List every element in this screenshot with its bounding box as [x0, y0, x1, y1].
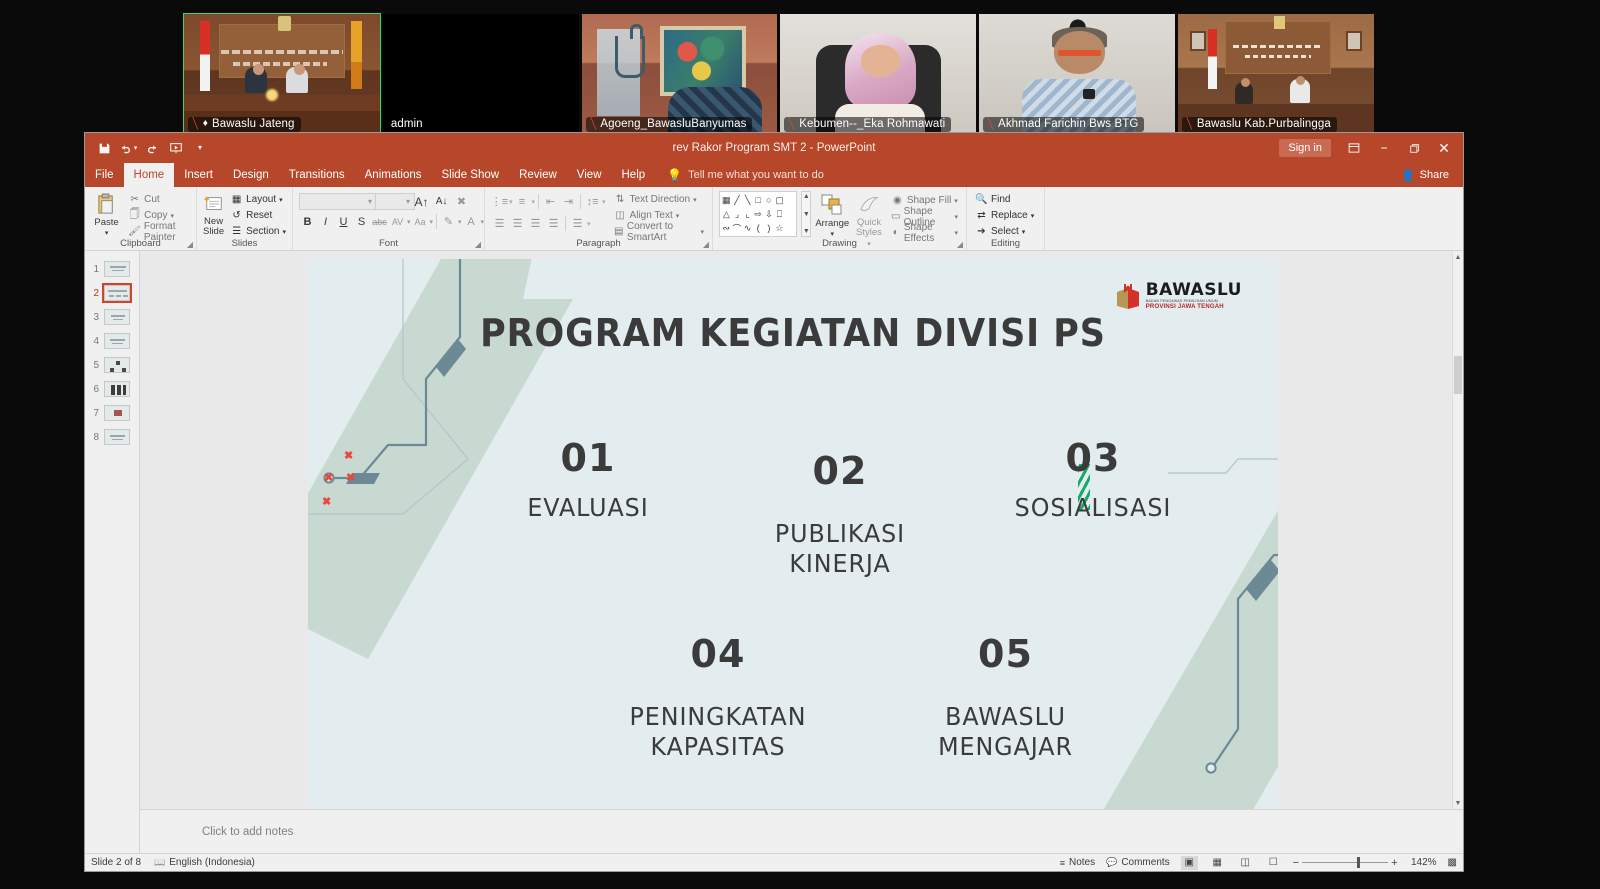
- italic-button[interactable]: I: [317, 213, 334, 230]
- tab-home[interactable]: Home: [124, 163, 175, 187]
- clear-formatting-icon[interactable]: ✖: [453, 193, 470, 210]
- bullets-button[interactable]: ⋮≡: [491, 193, 508, 210]
- chevron-down-icon: ▾: [587, 220, 591, 228]
- mic-muted-icon: ╲: [988, 119, 993, 130]
- paste-button[interactable]: Paste ▾: [91, 190, 122, 237]
- red-x-mark: ✖: [324, 471, 333, 484]
- tab-animations[interactable]: Animations: [355, 163, 432, 187]
- shape-blank2-icon[interactable]: [785, 207, 796, 221]
- item-number: 03: [963, 439, 1223, 479]
- chevron-down-icon: ▾: [830, 230, 834, 238]
- thumbnail-preview[interactable]: [104, 357, 130, 373]
- logo-sub1: BADAN PENGAWAS PEMILIHAN UMUM: [1146, 300, 1242, 304]
- item-label: EVALUASI: [474, 493, 702, 524]
- slide-editor: BAWASLU BADAN PENGAWAS PEMILIHAN UMUM PR…: [140, 251, 1463, 853]
- item-label: PENINGKATAN KAPASITAS: [590, 702, 847, 763]
- new-slide-label: New Slide: [203, 217, 224, 238]
- shape-left-brace-icon[interactable]: (: [753, 221, 764, 235]
- chevron-down-icon: ▾: [368, 197, 372, 206]
- normal-view-button[interactable]: ▣: [1181, 856, 1198, 870]
- find-button[interactable]: 🔍 Find: [973, 192, 1036, 207]
- shape-elbow-icon[interactable]: ⌟: [732, 207, 743, 221]
- group-label-paragraph: Paragraph: [485, 238, 712, 249]
- share-label: Share: [1420, 169, 1449, 181]
- shape-blank3-icon[interactable]: [785, 221, 796, 235]
- tell-me-label: Tell me what you want to do: [688, 169, 824, 181]
- arrange-icon: [821, 193, 843, 217]
- ribbon-group-drawing: ▦ ╱ ╲ □ ○ ▢ △ ⌟ ⌞ ⇨ ⇩ ⎕ ∾: [713, 187, 967, 250]
- participant-nametag: ╲ Agoeng_BawasluBanyumas: [586, 117, 753, 132]
- shape-arc-icon[interactable]: ⌒: [732, 221, 743, 235]
- thumbnail-number: 5: [90, 360, 99, 371]
- text-highlight-color-button[interactable]: ✎: [440, 213, 457, 230]
- participant-nametag: ╲ ♦ Bawaslu Jateng: [188, 117, 301, 132]
- chevron-down-icon: ▾: [458, 218, 462, 226]
- change-case-button[interactable]: Aa: [412, 213, 429, 230]
- shape-right-arrow-icon[interactable]: ⇨: [753, 207, 764, 221]
- window-title: rev Rakor Program SMT 2 - PowerPoint: [85, 142, 1463, 154]
- chevron-down-icon: ▾: [954, 197, 958, 205]
- thumbnail-slide-1[interactable]: 1: [85, 257, 139, 281]
- shape-line-icon[interactable]: ╱: [732, 193, 743, 207]
- group-label-slides: Slides: [197, 238, 292, 249]
- font-dialog-launcher[interactable]: ◢: [475, 240, 481, 249]
- shape-fill-icon: ◉: [891, 194, 904, 207]
- fit-to-window-button[interactable]: ▩: [1448, 857, 1457, 868]
- language-icon: 📖: [154, 857, 165, 868]
- ribbon-display-options-icon[interactable]: [1339, 135, 1369, 161]
- share-person-icon: 👤: [1401, 169, 1415, 182]
- increase-font-size-button[interactable]: A↑: [413, 193, 430, 210]
- shape-rectangle-icon[interactable]: □: [753, 193, 764, 207]
- copy-label: Copy: [144, 210, 167, 221]
- save-icon[interactable]: [93, 137, 115, 159]
- status-bar: Slide 2 of 8 📖 English (Indonesia) ≡ Not…: [85, 853, 1463, 871]
- shape-down-arrow-icon[interactable]: ⇩: [764, 207, 775, 221]
- thumbnail-number: 7: [90, 408, 99, 419]
- reset-icon: ↺: [230, 209, 243, 222]
- shape-oval-icon[interactable]: ○: [764, 193, 775, 207]
- group-label-drawing: Drawing: [713, 238, 966, 249]
- bawaslu-logo: BAWASLU BADAN PENGAWAS PEMILIHAN UMUM PR…: [1115, 281, 1242, 311]
- group-label-editing: Editing: [967, 238, 1044, 249]
- slide-counter[interactable]: Slide 2 of 8: [91, 857, 141, 868]
- zoom-percent[interactable]: 142%: [1409, 857, 1437, 868]
- paste-icon: [96, 192, 117, 216]
- quick-access-toolbar: ▾ ▾: [85, 137, 211, 159]
- notes-icon: ≡: [1060, 858, 1065, 868]
- item-number: 01: [468, 439, 708, 479]
- scroll-up-icon[interactable]: ▲: [1453, 251, 1463, 263]
- participant-nametag: ╲ Bawaslu Kab.Purbalingga: [1182, 117, 1337, 132]
- line-spacing-button[interactable]: ↕≡: [584, 193, 601, 210]
- undo-icon[interactable]: ▾: [117, 137, 139, 159]
- smartart-icon: ▤: [614, 225, 624, 238]
- scissors-icon: ✂: [128, 193, 141, 206]
- chevron-down-icon: ▾: [1031, 212, 1035, 220]
- chevron-down-icon: ▾: [481, 218, 485, 226]
- red-x-mark: ✖: [346, 471, 355, 484]
- mic-muted-icon: ╲: [590, 119, 595, 130]
- participant-name: Bawaslu Jateng: [212, 118, 295, 130]
- shape-blank-icon[interactable]: [785, 193, 796, 207]
- chevron-down-icon: ▾: [282, 228, 286, 236]
- shape-rounded-rect-icon[interactable]: ▢: [774, 193, 785, 207]
- thumbnail-slide-2[interactable]: 2: [85, 281, 139, 305]
- underline-button[interactable]: U: [335, 213, 352, 230]
- section-label: Section: [246, 226, 279, 237]
- tab-view[interactable]: View: [567, 163, 612, 187]
- zoom-slider[interactable]: − +: [1293, 857, 1398, 869]
- tell-me-search[interactable]: 💡 Tell me what you want to do: [655, 163, 824, 187]
- align-text-icon: ◫: [614, 209, 627, 222]
- close-icon[interactable]: ✕: [1429, 135, 1459, 161]
- video-tile-admin[interactable]: admin: [383, 14, 579, 135]
- logo-text: BAWASLU BADAN PENGAWAS PEMILIHAN UMUM PR…: [1146, 282, 1242, 311]
- powerpoint-window: ▾ ▾ rev Rakor Program SMT 2 - PowerPoint…: [85, 133, 1463, 871]
- text-direction-label: Text Direction: [630, 194, 691, 205]
- screen: ╲ ♦ Bawaslu Jateng admin ╲ Agoeng_Bawasl…: [0, 0, 1600, 889]
- quick-styles-label: Quick Styles: [853, 218, 885, 239]
- ribbon-group-paragraph: ⋮≡ ▾ ≡ ▾ ⇤ ⇥ ↕≡ ▾ ☰: [485, 187, 713, 250]
- chevron-down-icon: ▾: [1022, 228, 1026, 236]
- zoom-out-button[interactable]: −: [1293, 857, 1299, 869]
- slide-item-05[interactable]: 05 BAWASLU MENGAJAR: [878, 622, 1133, 776]
- chevron-down-icon: ▾: [105, 229, 109, 237]
- strikethrough-button[interactable]: abc: [371, 213, 388, 230]
- increase-indent-button[interactable]: ⇥: [560, 193, 577, 210]
- item-number: 02: [720, 452, 960, 492]
- slide-vertical-scrollbar[interactable]: ▲ ▼: [1452, 251, 1463, 809]
- reset-label: Reset: [246, 210, 272, 221]
- select-label: Select: [991, 226, 1019, 237]
- thumbnail-slide-3[interactable]: 3: [85, 305, 139, 329]
- shape-star-icon[interactable]: ☆: [774, 221, 785, 235]
- editor-main: 1 2 3: [85, 251, 1463, 853]
- tab-transitions[interactable]: Transitions: [279, 163, 355, 187]
- participant-name: Agoeng_BawasluBanyumas: [600, 118, 746, 130]
- item-number: 04: [583, 635, 853, 675]
- chevron-down-icon: ▾: [602, 198, 606, 206]
- shape-arrow-icon[interactable]: ╲: [742, 193, 753, 207]
- tab-help[interactable]: Help: [612, 163, 656, 187]
- item-label: SOSIALISASI: [970, 493, 1217, 524]
- shape-elbow2-icon[interactable]: ⌞: [742, 207, 753, 221]
- notes-label: Notes: [1069, 857, 1095, 868]
- comment-bubble-icon: 💬: [1106, 857, 1117, 868]
- select-button[interactable]: ➔ Select ▾: [973, 224, 1036, 239]
- participant-name: admin: [391, 118, 423, 130]
- character-spacing-button[interactable]: AV: [389, 213, 406, 230]
- participant-name: Kebumen--_Eka Rohmawati: [799, 118, 945, 130]
- slide-item-01[interactable]: 01 EVALUASI: [468, 439, 708, 523]
- shapes-gallery-scroll[interactable]: ▲ ▼ ▼: [801, 191, 811, 237]
- shape-textbox-icon[interactable]: ▦: [721, 193, 732, 207]
- thumbnail-number: 2: [90, 288, 99, 299]
- mic-muted-icon: ╲: [1187, 119, 1192, 130]
- convert-to-smartart-button[interactable]: ▤ Convert to SmartArt ▾: [612, 224, 706, 239]
- reset-button[interactable]: ↺ Reset: [228, 208, 288, 223]
- scroll-up-icon[interactable]: ▲: [803, 193, 810, 200]
- window-controls: Sign in − ✕: [1279, 135, 1463, 161]
- comments-button[interactable]: 💬 Comments: [1106, 857, 1170, 868]
- ribbon-tabs: File Home Insert Design Transitions Anim…: [85, 163, 1463, 187]
- replace-icon: ⇄: [975, 209, 988, 222]
- item-number: 05: [878, 635, 1133, 675]
- restore-icon[interactable]: [1399, 135, 1429, 161]
- thumbnail-slide-4[interactable]: 4: [85, 329, 139, 353]
- language-indicator[interactable]: 📖 English (Indonesia): [154, 857, 255, 868]
- shape-curve-icon[interactable]: ∿: [742, 221, 753, 235]
- chevron-down-icon: ▾: [676, 212, 680, 220]
- pin-icon: ♦: [203, 119, 208, 129]
- layout-button[interactable]: ▦ Layout ▾: [228, 192, 288, 207]
- ballot-box-icon: [1115, 281, 1141, 311]
- logo-name: BAWASLU: [1146, 280, 1242, 300]
- chevron-down-icon: ▾: [700, 228, 704, 236]
- scroll-down-icon[interactable]: ▼: [803, 211, 810, 218]
- participant-nametag: ╲ Akhmad Farichin Bws BTG: [983, 117, 1144, 132]
- section-icon: ☰: [230, 225, 243, 238]
- scrollbar-thumb[interactable]: [1454, 356, 1462, 394]
- shapes-more-icon[interactable]: ▼: [803, 228, 810, 235]
- columns-button[interactable]: ☰: [569, 215, 586, 232]
- chevron-down-icon: ▾: [406, 197, 410, 206]
- video-conference-filmstrip: ╲ ♦ Bawaslu Jateng admin ╲ Agoeng_Bawasl…: [184, 14, 1374, 135]
- numbering-button[interactable]: ≡: [514, 193, 531, 210]
- tab-insert[interactable]: Insert: [174, 163, 223, 187]
- participant-nametag: admin: [387, 117, 429, 132]
- new-slide-button[interactable]: New Slide: [203, 190, 224, 238]
- tab-review[interactable]: Review: [509, 163, 567, 187]
- comments-label: Comments: [1121, 857, 1169, 868]
- chevron-down-icon: ▾: [532, 198, 536, 206]
- thumbnail-number: 8: [90, 432, 99, 443]
- minimize-icon[interactable]: −: [1369, 135, 1399, 161]
- thumbnail-preview[interactable]: [104, 261, 130, 277]
- thumbnail-preview[interactable]: [104, 285, 130, 301]
- search-icon: 🔍: [975, 193, 988, 206]
- replace-button[interactable]: ⇄ Replace ▾: [973, 208, 1036, 223]
- shape-scribble-icon[interactable]: ∾: [721, 221, 732, 235]
- sign-in-button[interactable]: Sign in: [1279, 139, 1331, 157]
- decrease-indent-button[interactable]: ⇤: [542, 193, 559, 210]
- paragraph-dialog-launcher[interactable]: ◢: [703, 240, 709, 249]
- find-label: Find: [991, 194, 1010, 205]
- slide-title[interactable]: PROGRAM KEGIATAN DIVISI PS: [347, 311, 1239, 355]
- slide-sorter-view-button[interactable]: ▦: [1209, 856, 1226, 870]
- cut-label: Cut: [144, 194, 160, 205]
- ribbon-group-clipboard: Paste ▾ ✂ Cut 🗍 Copy ▾: [85, 187, 197, 250]
- reading-view-button[interactable]: ◫: [1237, 856, 1254, 870]
- video-tile-bawaslu-jateng[interactable]: ╲ ♦ Bawaslu Jateng: [184, 14, 380, 135]
- video-tile-bawaslu-kab-purbalingga[interactable]: ╲ Bawaslu Kab.Purbalingga: [1178, 14, 1374, 135]
- slide-thumbnail-pane[interactable]: 1 2 3: [85, 251, 140, 853]
- item-label: PUBLIKASI KINERJA: [726, 519, 954, 580]
- shadow-button[interactable]: S: [353, 213, 370, 230]
- video-tile-akhmad-farichin[interactable]: ╲ Akhmad Farichin Bws BTG: [979, 14, 1175, 135]
- notes-button[interactable]: ≡ Notes: [1060, 857, 1095, 868]
- red-x-mark: ✖: [322, 495, 331, 508]
- thumbnail-preview[interactable]: [104, 333, 130, 349]
- notes-pane[interactable]: Click to add notes: [140, 809, 1463, 853]
- chevron-down-icon: ▾: [407, 218, 411, 226]
- bold-button[interactable]: B: [299, 213, 316, 230]
- ribbon-group-slides: New Slide ▦ Layout ▾ ↺ Reset: [197, 187, 293, 250]
- item-label: BAWASLU MENGAJAR: [884, 702, 1126, 763]
- arrange-label: Arrange: [815, 218, 849, 229]
- slide-canvas-area[interactable]: BAWASLU BADAN PENGAWAS PEMILIHAN UMUM PR…: [140, 251, 1463, 809]
- logo-sub2: PROVINSI JAWA TENGAH: [1146, 304, 1242, 310]
- shape-outline-icon: ▭: [891, 210, 901, 223]
- thumbnail-preview[interactable]: [104, 429, 130, 445]
- chevron-down-icon: ▾: [955, 213, 959, 221]
- text-direction-button[interactable]: ⇅ Text Direction ▾: [612, 192, 706, 207]
- decrease-font-size-button[interactable]: A↓: [433, 193, 450, 210]
- share-button[interactable]: 👤 Share: [1401, 163, 1463, 187]
- tab-file[interactable]: File: [85, 163, 124, 187]
- section-button[interactable]: ☰ Section ▾: [228, 224, 288, 239]
- quick-styles-icon: [858, 193, 880, 217]
- thumbnail-preview[interactable]: [104, 309, 130, 325]
- mic-muted-icon: ╲: [789, 119, 794, 130]
- layout-label: Layout: [246, 194, 276, 205]
- group-label-font: Font: [293, 238, 484, 249]
- align-center-button[interactable]: ☰: [509, 215, 526, 232]
- drawing-dialog-launcher[interactable]: ◢: [957, 240, 963, 249]
- chevron-down-icon: ▾: [509, 198, 513, 206]
- title-bar: ▾ ▾ rev Rakor Program SMT 2 - PowerPoint…: [85, 133, 1463, 163]
- thumbnail-slide-5[interactable]: 5: [85, 353, 139, 377]
- thumbnail-slide-8[interactable]: 8: [85, 425, 139, 449]
- mic-muted-icon: ╲: [193, 119, 198, 130]
- redo-icon[interactable]: [141, 137, 163, 159]
- thumbnail-slide-7[interactable]: 7: [85, 401, 139, 425]
- slide-item-03[interactable]: 03 SOSIALISASI: [963, 439, 1223, 523]
- slide-canvas[interactable]: BAWASLU BADAN PENGAWAS PEMILIHAN UMUM PR…: [308, 259, 1278, 809]
- slide-item-04[interactable]: 04 PENINGKATAN KAPASITAS: [583, 622, 853, 776]
- ribbon-home: Paste ▾ ✂ Cut 🗍 Copy ▾: [85, 187, 1463, 251]
- thumbnail-number: 4: [90, 336, 99, 347]
- cursor-icon: ➔: [975, 225, 988, 238]
- thumbnail-slide-6[interactable]: 6: [85, 377, 139, 401]
- layout-icon: ▦: [230, 193, 243, 206]
- slide-show-button[interactable]: ☐: [1265, 856, 1282, 870]
- shape-triangle-icon[interactable]: △: [721, 207, 732, 221]
- zoom-track[interactable]: [1302, 862, 1388, 863]
- zoom-thumb[interactable]: [1357, 857, 1360, 868]
- thumbnail-preview[interactable]: [104, 405, 130, 421]
- cut-button[interactable]: ✂ Cut: [126, 192, 190, 207]
- video-tile-kebumen-eka-rohmawati[interactable]: ╲ Kebumen--_Eka Rohmawati: [780, 14, 976, 135]
- participant-name: Bawaslu Kab.Purbalingga: [1197, 118, 1331, 130]
- format-painter-button[interactable]: 🖌 Format Painter: [126, 224, 190, 239]
- chevron-down-icon: ▾: [693, 196, 697, 204]
- arrange-button[interactable]: Arrange ▾: [815, 191, 849, 238]
- language-label: English (Indonesia): [169, 857, 255, 868]
- shape-fill-label: Shape Fill: [907, 195, 951, 206]
- paintbrush-icon: 🖌: [128, 225, 141, 238]
- notes-placeholder: Click to add notes: [202, 826, 293, 838]
- slide-item-02[interactable]: 02 PUBLIKASI KINERJA: [720, 439, 960, 593]
- new-slide-icon: [204, 192, 224, 216]
- tab-slide-show[interactable]: Slide Show: [432, 163, 510, 187]
- font-color-button[interactable]: A: [463, 213, 480, 230]
- shape-right-brace-icon[interactable]: ): [764, 221, 775, 235]
- ribbon-group-font: ▾ ▾ A↑ A↓ ✖ B I U S abc AV ▾: [293, 187, 485, 250]
- participant-nametag: ╲ Kebumen--_Eka Rohmawati: [784, 117, 951, 132]
- group-label-clipboard: Clipboard: [85, 238, 196, 249]
- font-name-input[interactable]: [299, 193, 377, 210]
- thumbnail-preview[interactable]: [104, 381, 130, 397]
- thumbnail-number: 6: [90, 384, 99, 395]
- participant-name: Akhmad Farichin Bws BTG: [998, 118, 1138, 130]
- text-direction-icon: ⇅: [614, 193, 627, 206]
- chevron-down-icon: ▾: [171, 212, 175, 220]
- justify-button[interactable]: ☰: [545, 215, 562, 232]
- red-x-mark: ✖: [344, 449, 353, 462]
- shapes-gallery[interactable]: ▦ ╱ ╲ □ ○ ▢ △ ⌟ ⌞ ⇨ ⇩ ⎕ ∾: [719, 191, 797, 237]
- clipboard-dialog-launcher[interactable]: ◢: [187, 240, 193, 249]
- shape-flowchart-icon[interactable]: ⎕: [774, 207, 785, 221]
- chevron-down-icon: ▾: [955, 229, 959, 237]
- tab-design[interactable]: Design: [223, 163, 279, 187]
- thumbnail-number: 3: [90, 312, 99, 323]
- thumbnail-number: 1: [90, 264, 99, 275]
- lightbulb-icon: 💡: [667, 168, 682, 182]
- paste-label: Paste: [94, 217, 118, 228]
- zoom-in-button[interactable]: +: [1391, 857, 1397, 869]
- align-left-button[interactable]: ☰: [491, 215, 508, 232]
- copy-icon: 🗍: [128, 209, 141, 222]
- chevron-down-icon: ▾: [430, 218, 434, 226]
- align-text-label: Align Text: [630, 210, 673, 221]
- start-presentation-icon[interactable]: [165, 137, 187, 159]
- customize-qat-icon[interactable]: ▾: [189, 137, 211, 159]
- video-tile-agoeng-bawaslubanyumas[interactable]: ╲ Agoeng_BawasluBanyumas: [582, 14, 778, 135]
- scroll-down-icon[interactable]: ▼: [1453, 797, 1463, 809]
- chevron-down-icon: ▾: [279, 196, 283, 204]
- ribbon-group-editing: 🔍 Find ⇄ Replace ▾ ➔ Select ▾: [967, 187, 1045, 250]
- align-right-button[interactable]: ☰: [527, 215, 544, 232]
- replace-label: Replace: [991, 210, 1028, 221]
